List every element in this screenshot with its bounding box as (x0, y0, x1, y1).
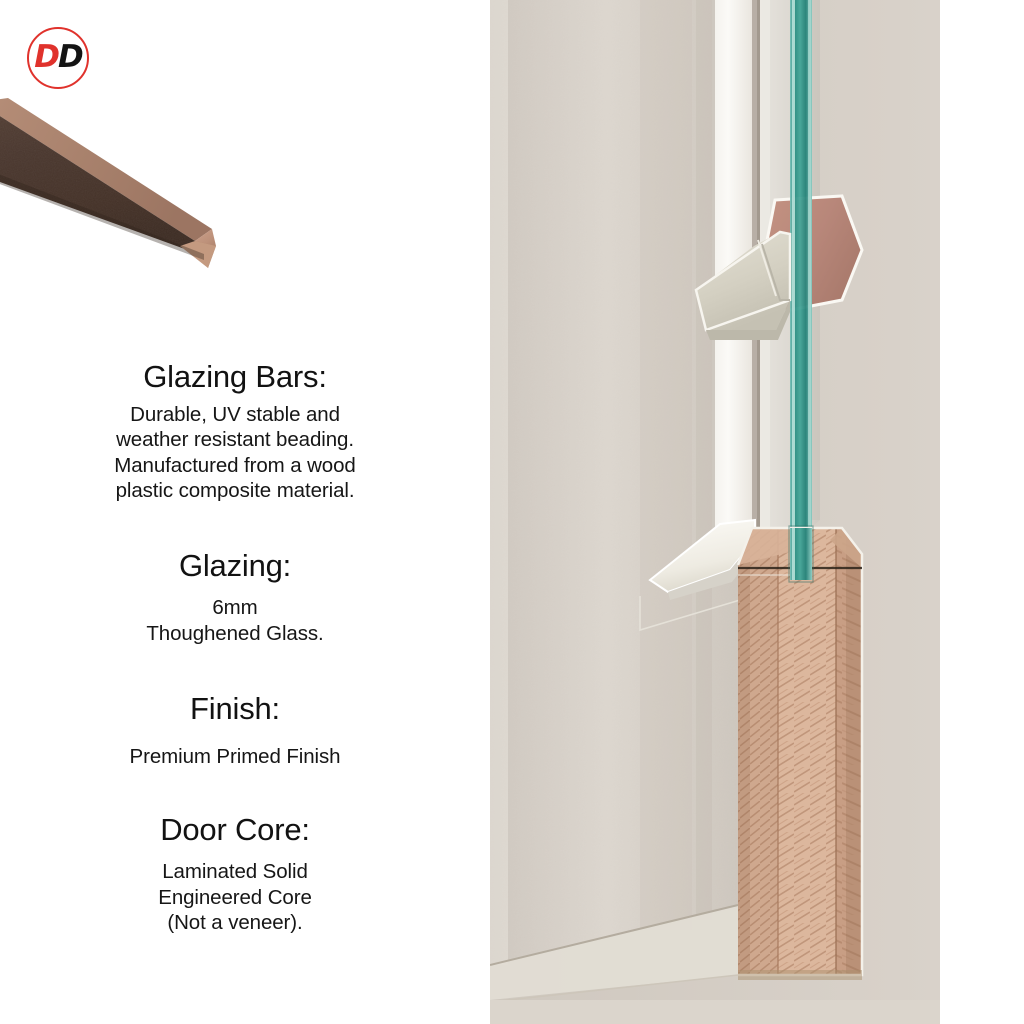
beading-front-face (0, 102, 204, 256)
spec-item-glazing-bars: Glazing Bars: Durable, UV stable and wea… (0, 358, 470, 503)
beading-top-bevel (0, 98, 212, 241)
engineered-wood-core (730, 520, 866, 980)
spec-item-finish: Finish: Premium Primed Finish (0, 690, 470, 769)
brand-logo-letter-1: D (34, 39, 58, 75)
spec-heading-glazing: Glazing: (0, 547, 470, 585)
spec-body-glazing-bars: Durable, UV stable and weather resistant… (0, 402, 470, 504)
spec-heading-glazing-bars: Glazing Bars: (0, 358, 470, 396)
brand-logo-letter-2: D (58, 39, 82, 75)
brand-logo-text: DD (34, 42, 81, 73)
beading-bar-illustration (0, 96, 290, 326)
spec-heading-finish: Finish: (0, 690, 470, 728)
door-cutaway-photo (490, 0, 940, 1024)
spec-sheet-page: DD (0, 0, 1024, 1024)
brand-logo: DD (27, 27, 89, 89)
spec-body-door-core: Laminated Solid Engineered Core (Not a v… (0, 859, 470, 935)
beading-end-cap (195, 229, 216, 256)
specifications-list: Glazing Bars: Durable, UV stable and wea… (0, 358, 470, 939)
beading-end-triangle (195, 241, 216, 268)
spec-item-door-core: Door Core: Laminated Solid Engineered Co… (0, 811, 470, 935)
spec-body-glazing: 6mm Thoughened Glass. (0, 595, 470, 646)
spec-heading-door-core: Door Core: (0, 811, 470, 849)
spec-body-finish: Premium Primed Finish (0, 744, 470, 769)
spec-item-glazing: Glazing: 6mm Thoughened Glass. (0, 547, 470, 646)
